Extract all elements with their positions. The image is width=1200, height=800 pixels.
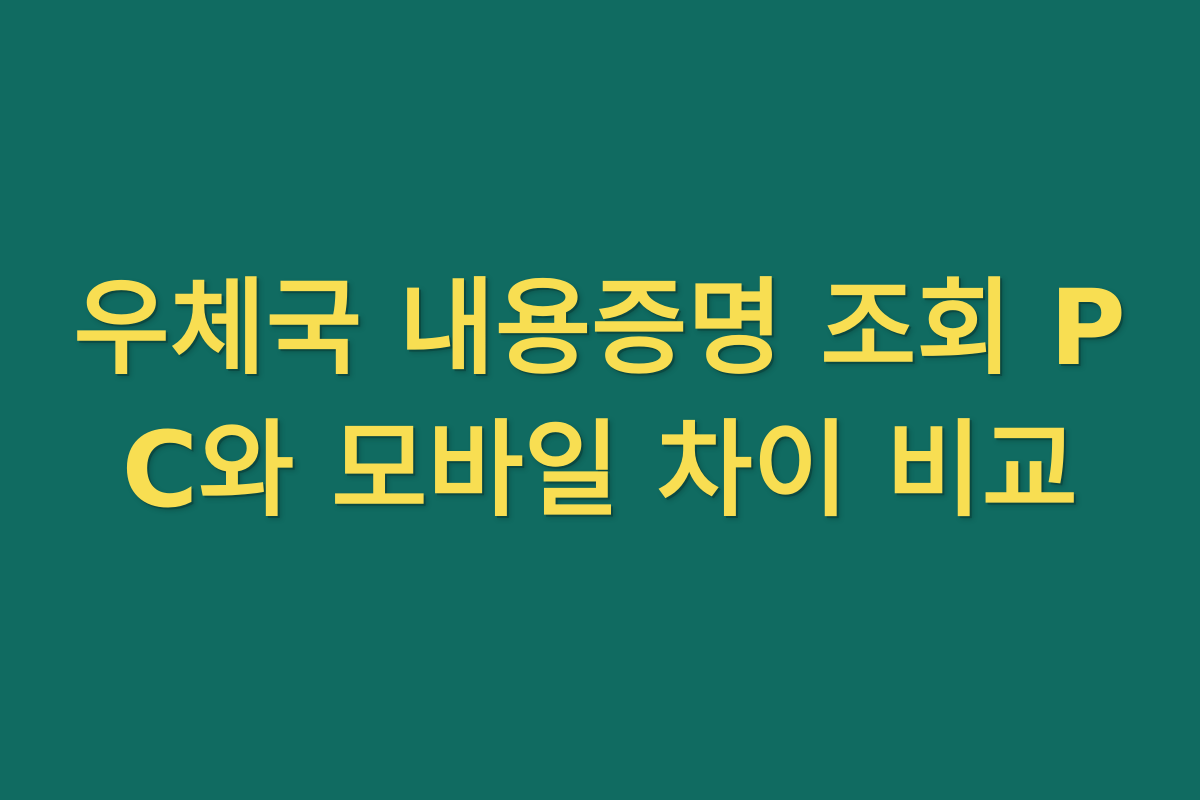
title-text-block: 우체국 내용증명 조회 P C와 모바일 차이 비교 xyxy=(70,263,1130,535)
title-line-2: C와 모바일 차이 비교 xyxy=(70,405,1130,535)
title-card: 우체국 내용증명 조회 P C와 모바일 차이 비교 xyxy=(0,0,1200,800)
title-line-1: 우체국 내용증명 조회 P xyxy=(70,263,1130,393)
